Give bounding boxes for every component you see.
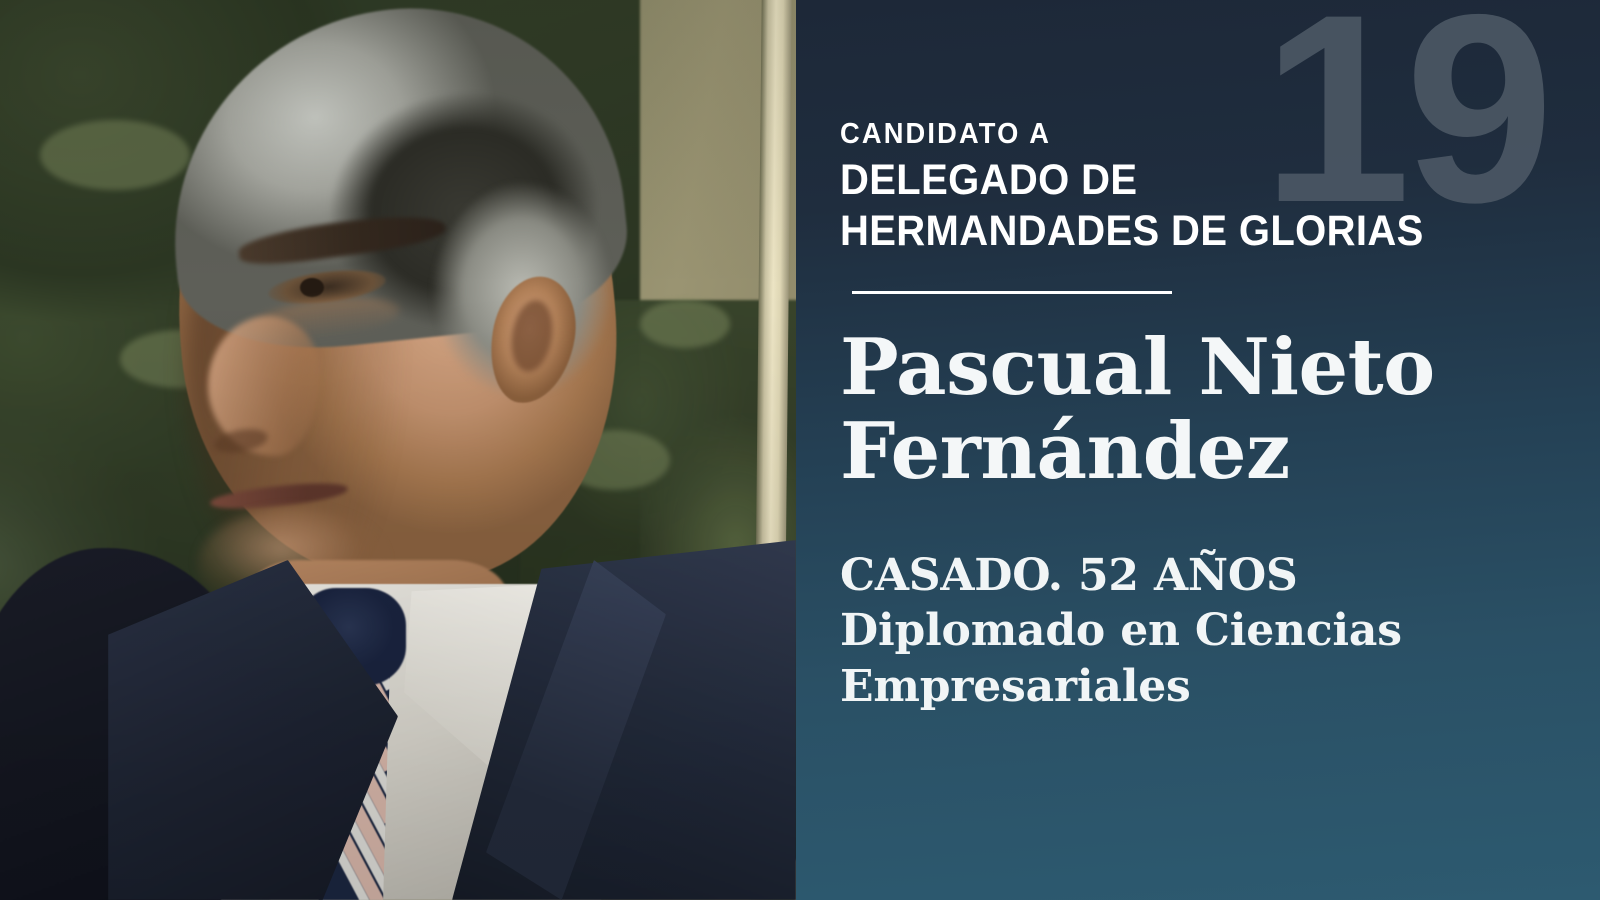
title-divider-rule [852,291,1172,294]
photo-leaf-highlight [640,300,730,348]
candidate-photo [0,0,796,900]
candidacy-eyebrow-label: CANDIDATO A [840,118,1051,150]
candidacy-role-title: DELEGADO DE HERMANDADES DE GLORIAS [840,155,1547,256]
photo-leaf-highlight [40,120,190,190]
candidate-bio: CASADO. 52 AÑOS Diplomado en Ciencias Em… [840,548,1580,714]
candidate-name-line-1: Pascual Nieto [840,326,1580,410]
candidate-bio-line-2: Diplomado en Ciencias [840,603,1580,658]
candidacy-role-line-2: HERMANDADES DE GLORIAS [840,206,1547,257]
info-panel: 19 CANDIDATO A DELEGADO DE HERMANDADES D… [796,0,1600,900]
candidate-card: 19 CANDIDATO A DELEGADO DE HERMANDADES D… [0,0,1600,900]
info-panel-content: CANDIDATO A DELEGADO DE HERMANDADES DE G… [840,0,1600,900]
candidate-name-line-2: Fernández [840,410,1580,494]
candidate-bio-line-1: CASADO. 52 AÑOS [840,548,1580,603]
photo-eye-pupil [300,278,324,297]
candidate-name: Pascual Nieto Fernández [840,326,1580,494]
candidate-bio-line-3: Empresariales [840,659,1580,714]
candidacy-role-line-1: DELEGADO DE [840,155,1547,206]
